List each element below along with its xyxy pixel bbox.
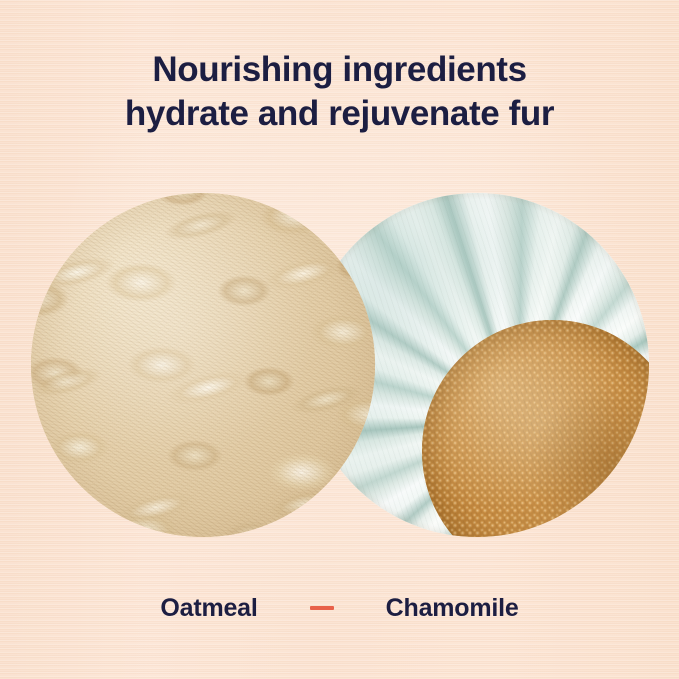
headline-line-2: hydrate and rejuvenate fur xyxy=(0,92,679,136)
headline-line-1: Nourishing ingredients xyxy=(0,48,679,92)
promo-image: Nourishing ingredients hydrate and rejuv… xyxy=(0,0,679,679)
ingredient-caption: Oatmeal Chamomile xyxy=(0,594,679,622)
caption-dash-icon xyxy=(310,606,334,610)
caption-chamomile: Chamomile xyxy=(386,594,519,622)
oatmeal-edge-shading xyxy=(31,193,375,537)
headline: Nourishing ingredients hydrate and rejuv… xyxy=(0,48,679,136)
oatmeal-photo xyxy=(31,193,375,537)
caption-oatmeal: Oatmeal xyxy=(160,594,257,622)
